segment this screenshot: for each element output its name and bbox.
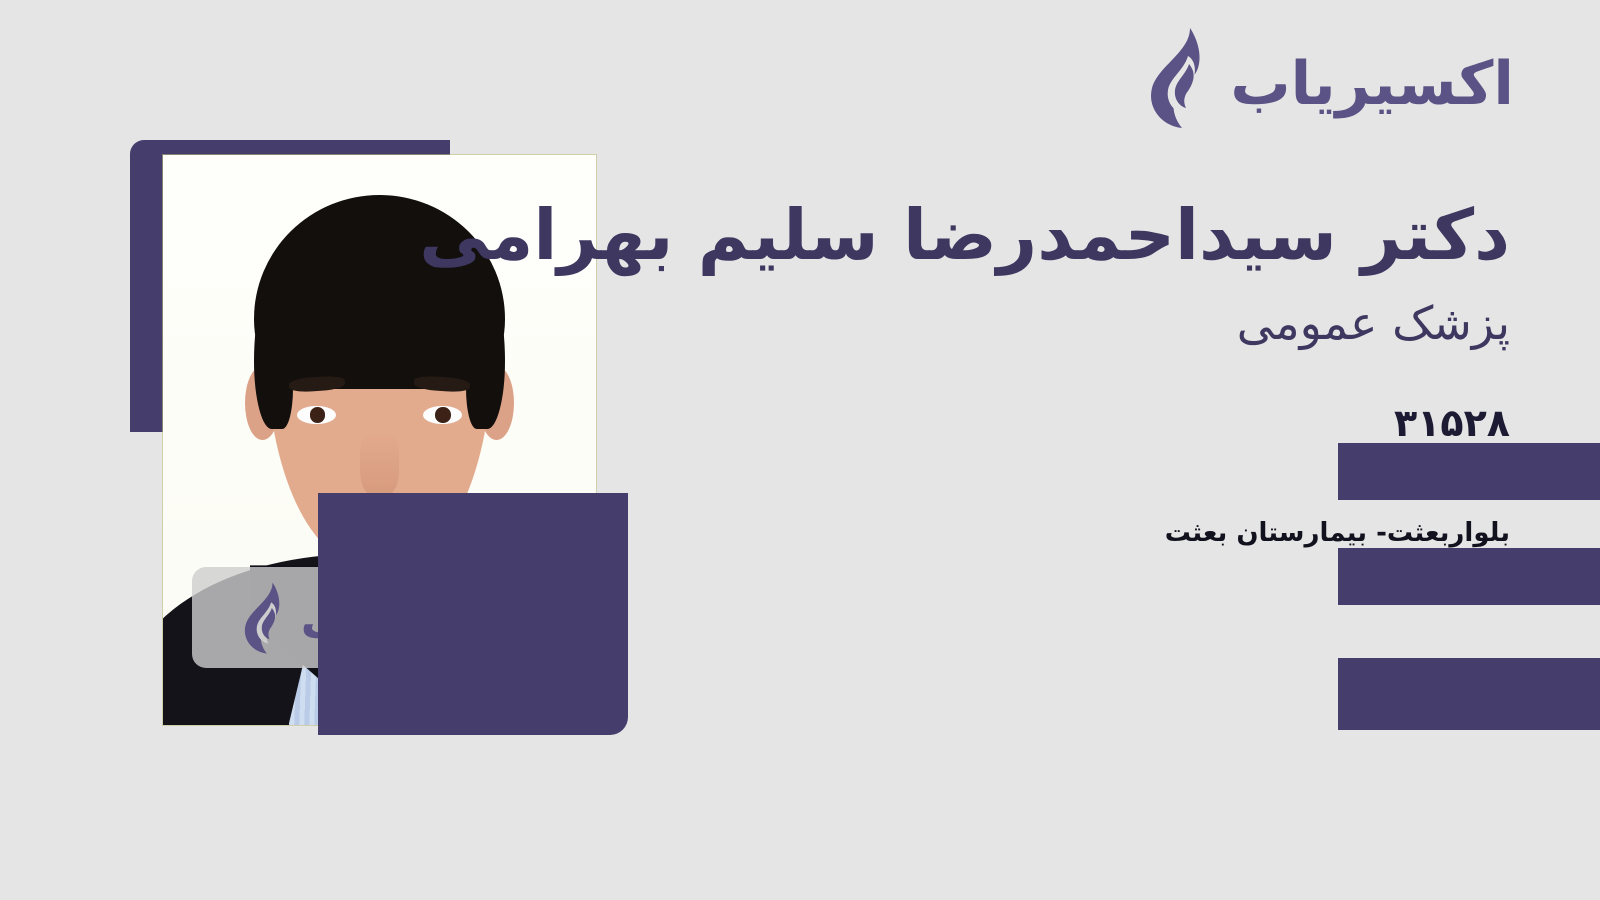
doctor-info: دکتر سیداحمدرضا سلیم بهرامی پزشک عمومی ۳…	[510, 196, 1510, 562]
license-number: ۳۱۵۲۸	[1394, 401, 1510, 445]
flame-droplet-icon	[1140, 26, 1216, 130]
address-text: بلواربعثت- بیمارستان بعثت	[1165, 518, 1510, 548]
doctor-name: دکتر سیداحمدرضا سلیم بهرامی	[290, 196, 1510, 274]
profile-card: اکسیریاب	[0, 0, 1600, 900]
brand-name-label: اکسیریاب	[1230, 54, 1514, 114]
edge-bar-2	[1338, 548, 1600, 605]
edge-bar-1	[1338, 443, 1600, 500]
doctor-specialty: پزشک عمومی	[510, 296, 1510, 350]
watermark-flame-droplet-icon	[237, 581, 291, 655]
brand-logo[interactable]: اکسیریاب	[1140, 26, 1514, 130]
edge-bar-3	[1338, 658, 1600, 730]
